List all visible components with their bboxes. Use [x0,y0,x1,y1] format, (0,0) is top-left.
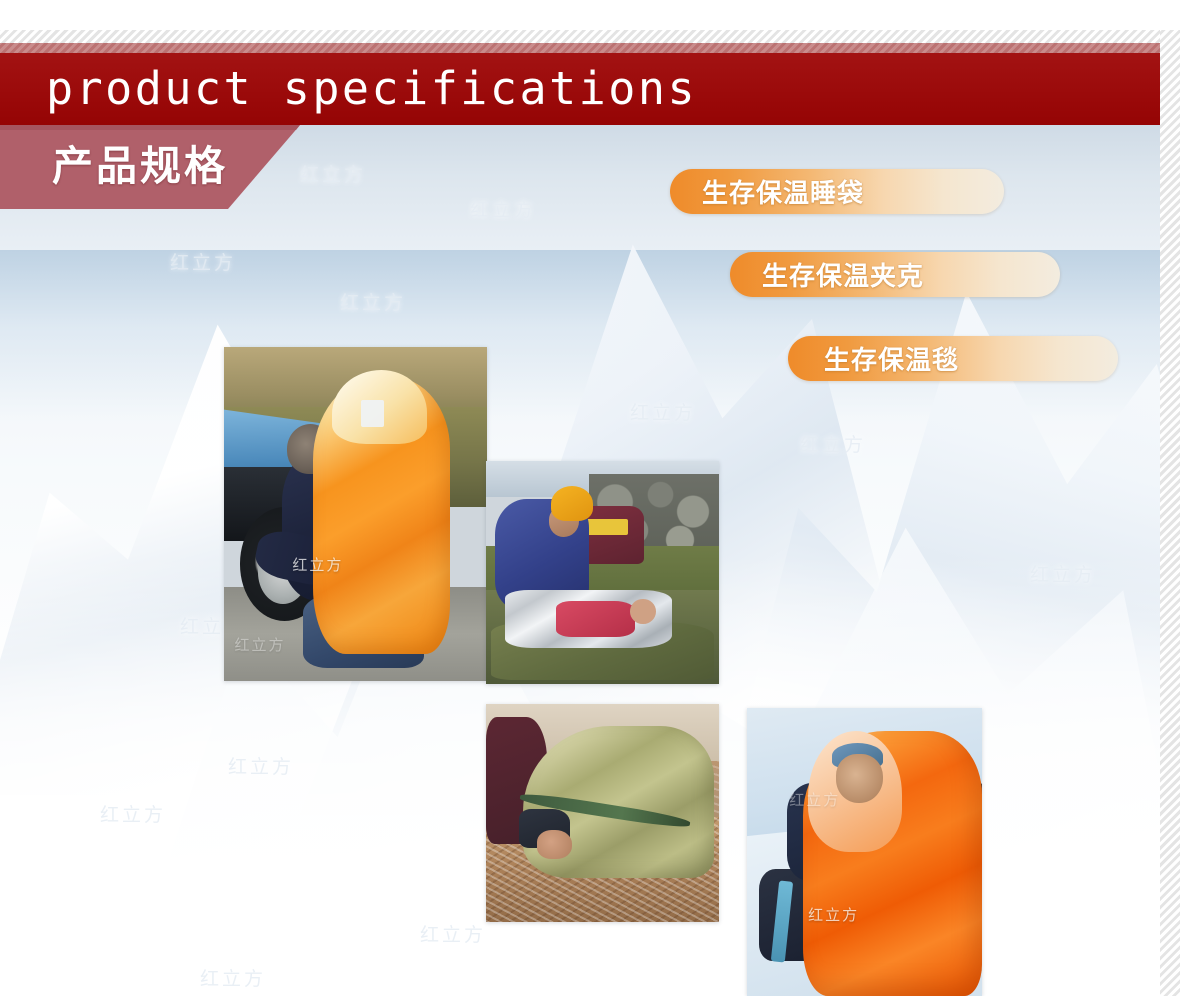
photo-rescuer-opening-silver-bag [486,461,719,684]
photo-content [486,461,719,684]
photo-climber-face [836,754,883,803]
product-tag-blanket[interactable]: 生存保温毯 [788,336,1118,381]
subtitle-banner-edge [0,125,300,130]
photo-content [747,708,982,996]
product-tag-label: 生存保温睡袋 [702,173,864,210]
product-tag-sleeping-bag[interactable]: 生存保温睡袋 [670,169,1004,214]
photo-rescuer-helmet [551,486,593,522]
product-tag-label: 生存保温夹克 [762,256,924,293]
photo-orange-bivvy-snow: 红立方 红立方 [747,708,982,996]
photo-casualty-clothing [556,601,635,637]
product-tag-jacket[interactable]: 生存保温夹克 [730,252,1060,297]
photo-content [224,347,487,681]
photo-bivvy-label [361,400,385,427]
product-tag-label: 生存保温毯 [824,340,959,377]
photo-person-hand [537,830,572,858]
photo-content [486,704,719,922]
top-striped-rule [0,30,1180,43]
right-striped-border [1160,0,1180,996]
page-title-chinese: 产品规格 [52,137,228,195]
product-specifications-banner: 红立方 红立方 红立方 红立方 红立方 红立方 红立方 红立方 红立方 红立方 … [0,0,1180,996]
photo-casualty-head [630,599,656,624]
page-title-english: product specifications [46,60,697,118]
photo-vehicle-decal [586,519,628,535]
photo-olive-bivvy-woodchips [486,704,719,922]
right-border-top-mask [1160,0,1180,30]
pink-striped-rule [0,43,1180,53]
photo-orange-bivvy-roadside: 红立方 红立方 [224,347,487,681]
